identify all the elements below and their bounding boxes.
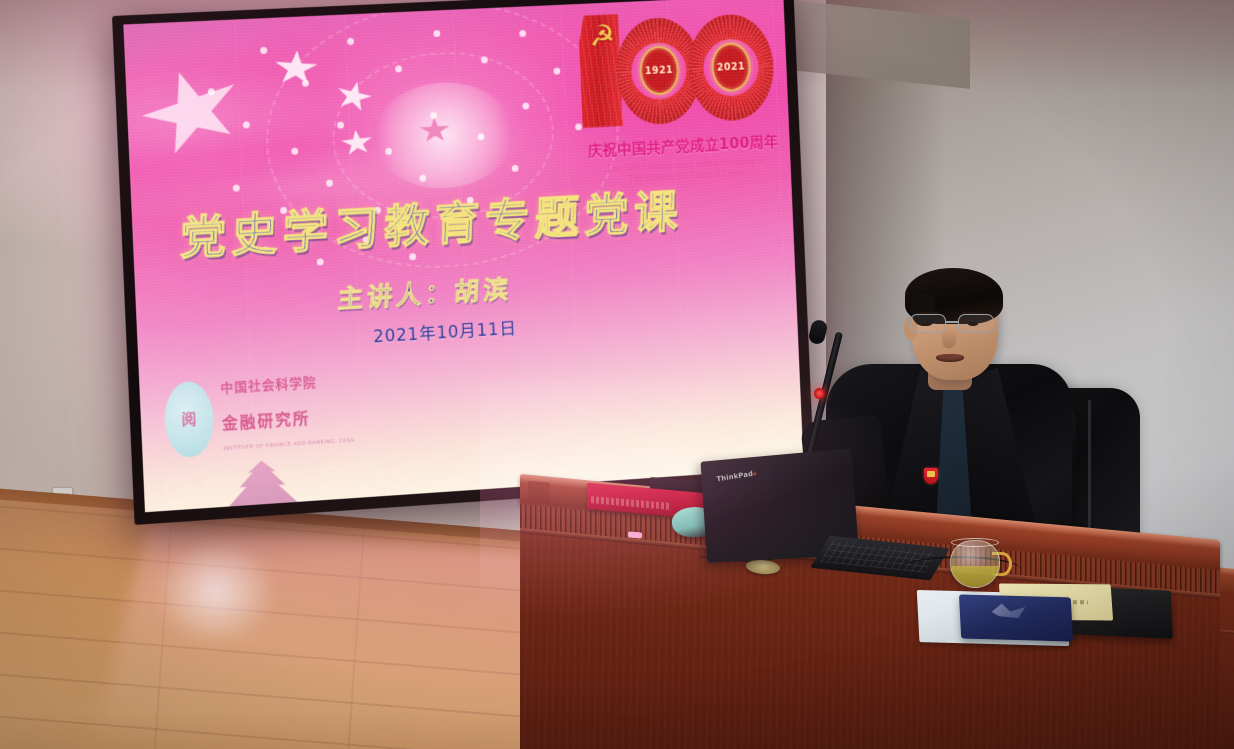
institute-name-line2: 金融研究所 [221,405,310,434]
emblem-digit-zero-2: 2021 [687,12,775,122]
centenary-emblem: ☭ 1921 2021 庆祝中国共产党成立100周年 [574,5,782,196]
speaker-mouth [936,354,964,362]
thinkpad-laptop[interactable]: ThinkPad [700,455,860,575]
hammer-and-sickle-icon: ☭ [584,22,620,74]
institute-logo-mark: 阅 [163,380,215,459]
tea-liquid [951,566,999,587]
led-screen[interactable]: ☭ 1921 2021 庆祝中国共产党成立100周年 [112,0,814,525]
institute-name-en: INSTITUTE OF FINANCE AND BANKING, CASS [223,437,354,451]
speaker-nose [942,328,956,348]
screen-bezel: ☭ 1921 2021 庆祝中国共产党成立100周年 [112,0,814,525]
party-badge-pin [924,468,938,484]
microphone-led-indicator [814,388,825,399]
screen-panel: ☭ 1921 2021 庆祝中国共产党成立100周年 [123,0,803,512]
eyeglass-bridge [946,321,958,323]
emblem-year-ring-left: 1921 [639,45,680,96]
emblem-year-right: 2021 [717,61,746,73]
speaker-eye-left [920,322,930,326]
pink-small-item[interactable] [628,531,642,538]
photo-scene: ☭ 1921 2021 庆祝中国共产党成立100周年 [0,0,1234,749]
speaker-eye-right [968,322,978,326]
glass-teacup[interactable] [950,534,1008,590]
floor-highlight-reflection [156,536,276,646]
institute-mark-glyph: 阅 [181,408,197,430]
teacup-rim [951,538,999,547]
teacup-body [950,540,1000,588]
emblem-numeral-100: ☭ 1921 2021 [574,5,780,141]
institute-name-line1: 中国社会科学院 [220,372,317,397]
thinkpad-logo: ThinkPad [716,469,756,483]
institute-logo: 阅 中国社会科学院 金融研究所 INSTITUTE OF FINANCE AND… [163,362,448,472]
emblem-year-left: 1921 [645,65,674,77]
blue-notebook[interactable] [959,594,1073,641]
emblem-year-ring-right: 2021 [711,42,752,93]
